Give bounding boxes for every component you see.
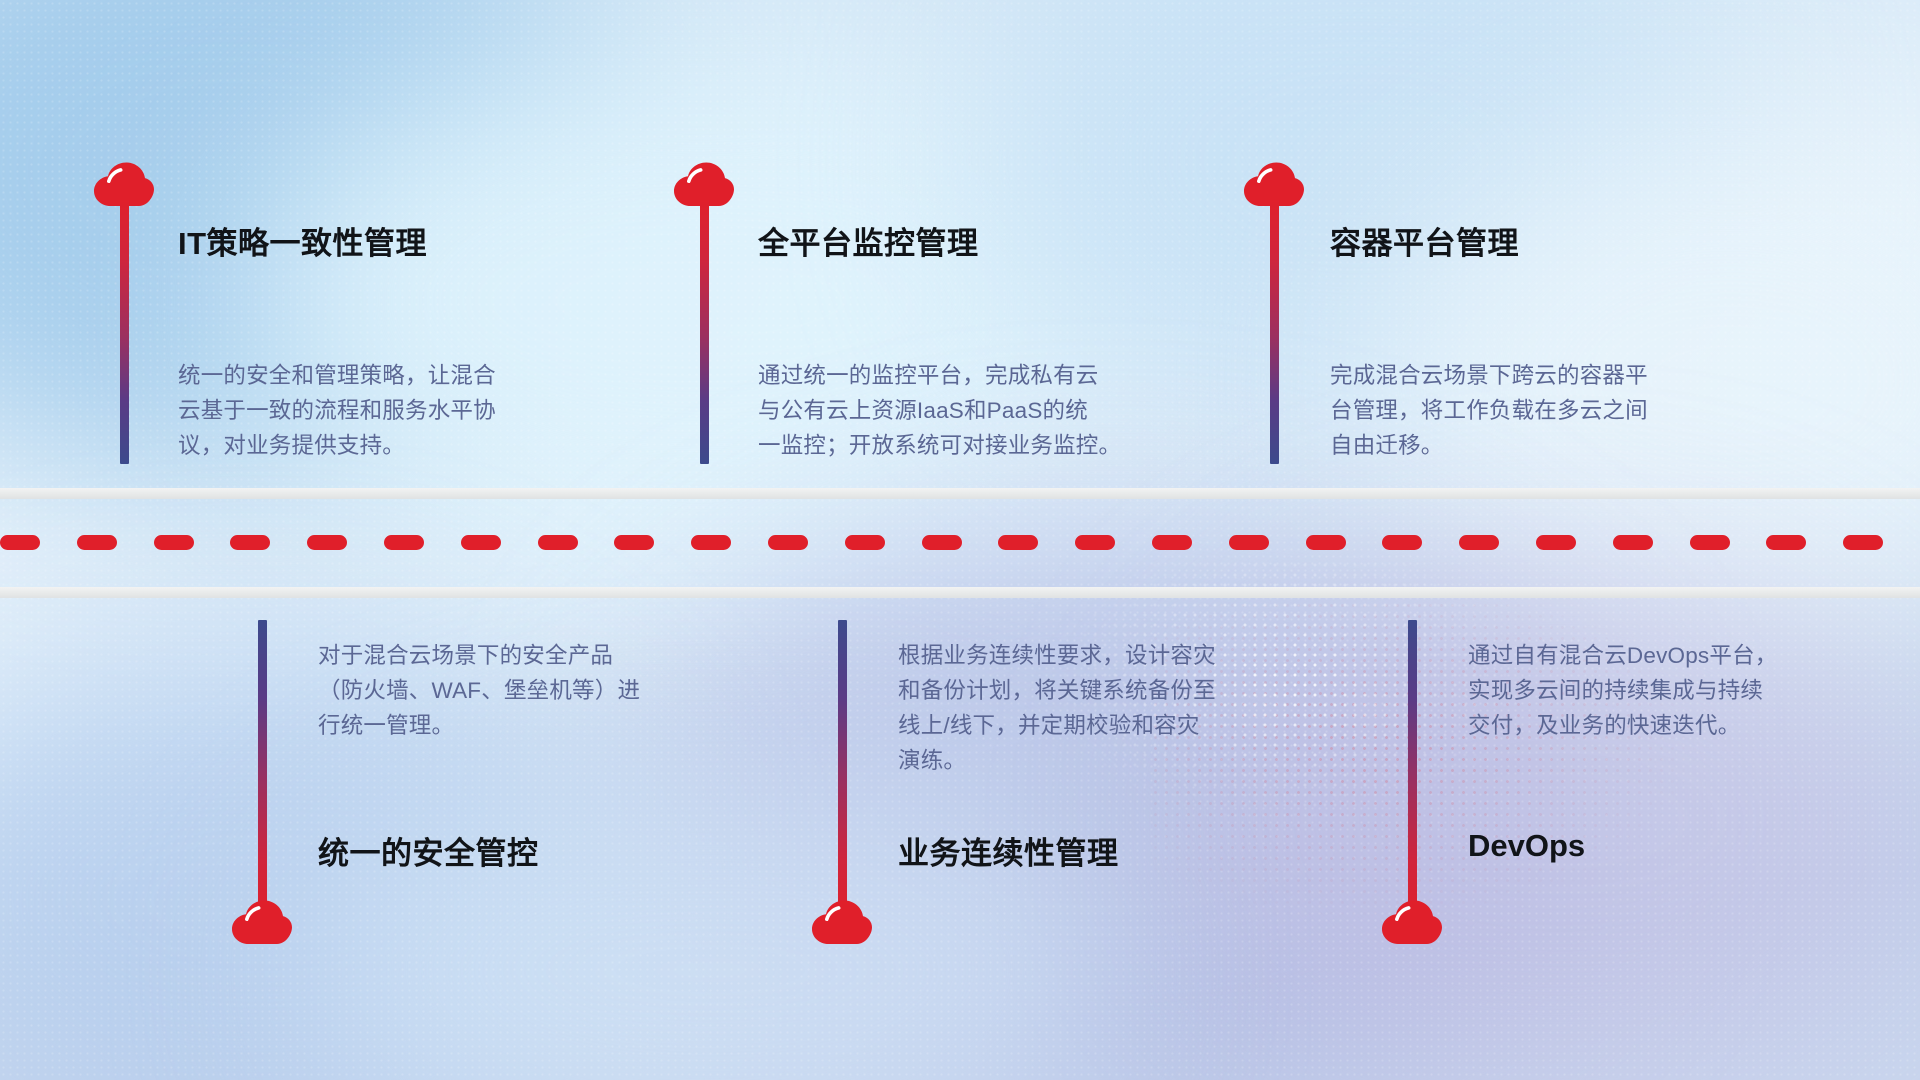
card-body: 根据业务连续性要求，设计容灾 和备份计划，将关键系统备份至 线上/线下，并定期校… [898, 638, 1318, 778]
connector-line [838, 620, 847, 920]
cloud-icon [230, 898, 294, 946]
road-dash-segment [538, 535, 578, 550]
road-dash-segment [1536, 535, 1576, 550]
road-dash-segment [1075, 535, 1115, 550]
connector-line [1408, 620, 1417, 920]
card-heading: 容器平台管理 [1330, 218, 1519, 263]
card-heading: 统一的安全管控 [318, 828, 539, 873]
road-dash-segment [461, 535, 501, 550]
road-dash-segment [154, 535, 194, 550]
road-dash-segment [1229, 535, 1269, 550]
road-dash-segment [1459, 535, 1499, 550]
card-body: 完成混合云场景下跨云的容器平 台管理，将工作负载在多云之间 自由迁移。 [1330, 358, 1760, 463]
road-dash-segment [1843, 535, 1883, 550]
card-heading: IT策略一致性管理 [178, 218, 427, 263]
card-heading: 业务连续性管理 [898, 828, 1119, 873]
road-dash-segment [691, 535, 731, 550]
card-heading: DevOps [1468, 828, 1585, 864]
road-dash-segment [1613, 535, 1653, 550]
connector-line [1270, 200, 1279, 464]
road-dash-segment [614, 535, 654, 550]
cloud-icon [810, 898, 874, 946]
road-dash-segment [307, 535, 347, 550]
infographic-canvas: IT策略一致性管理 统一的安全和管理策略，让混合 云基于一致的流程和服务水平协 … [0, 0, 1920, 1080]
road-band-top [0, 488, 1920, 499]
road-dashed-line [0, 535, 1920, 550]
road-dash-segment [1690, 535, 1730, 550]
cloud-icon [1380, 898, 1444, 946]
card-body: 统一的安全和管理策略，让混合 云基于一致的流程和服务水平协 议，对业务提供支持。 [178, 358, 608, 463]
road-dash-segment [1306, 535, 1346, 550]
road-band-bottom [0, 587, 1920, 598]
road-dash-segment [1766, 535, 1806, 550]
road-dash-segment [845, 535, 885, 550]
road-dash-segment [922, 535, 962, 550]
connector-line [700, 200, 709, 464]
road-dash-segment [77, 535, 117, 550]
road-divider [0, 488, 1920, 598]
road-dash-segment [768, 535, 808, 550]
road-dash-segment [230, 535, 270, 550]
card-body: 通过统一的监控平台，完成私有云 与公有云上资源IaaS和PaaS的统 一监控；开… [758, 358, 1208, 463]
connector-line [120, 200, 129, 464]
road-dash-segment [0, 535, 40, 550]
road-dash-segment [1382, 535, 1422, 550]
road-dash-segment [1152, 535, 1192, 550]
card-body: 对于混合云场景下的安全产品 （防火墙、WAF、堡垒机等）进 行统一管理。 [318, 638, 738, 743]
connector-line [258, 620, 267, 920]
road-dash-segment [998, 535, 1038, 550]
card-heading: 全平台监控管理 [758, 218, 979, 263]
road-dash-segment [384, 535, 424, 550]
card-body: 通过自有混合云DevOps平台， 实现多云间的持续集成与持续 交付，及业务的快速… [1468, 638, 1888, 743]
